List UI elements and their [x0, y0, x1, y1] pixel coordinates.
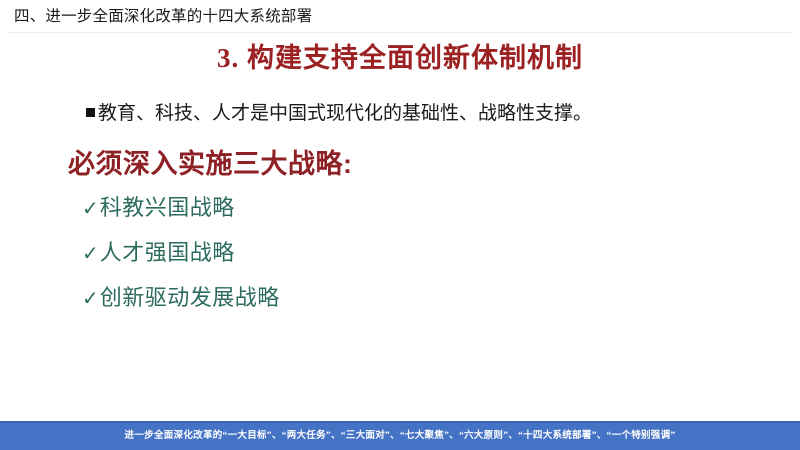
bullet-statement: 教育、科技、人才是中国式现代化的基础性、战略性支撑。	[86, 101, 780, 126]
slide-title: 3. 构建支持全面创新体制机制	[0, 40, 800, 76]
strategy-label: 人才强国战略	[100, 239, 235, 267]
square-bullet-icon	[86, 108, 95, 117]
header-divider	[8, 32, 792, 33]
section-heading: 四、进一步全面深化改革的十四大系统部署	[14, 6, 786, 28]
check-icon: ✓	[82, 287, 99, 311]
strategy-label: 创新驱动发展战略	[100, 284, 280, 312]
slide-header: 四、进一步全面深化改革的十四大系统部署	[14, 6, 786, 32]
list-item: ✓ 科教兴国战略	[82, 194, 682, 239]
list-item: ✓ 创新驱动发展战略	[82, 284, 682, 329]
strategy-list: ✓ 科教兴国战略 ✓ 人才强国战略 ✓ 创新驱动发展战略	[82, 194, 682, 329]
check-icon: ✓	[82, 242, 99, 266]
list-item: ✓ 人才强国战略	[82, 239, 682, 284]
bullet-statement-text: 教育、科技、人才是中国式现代化的基础性、战略性支撑。	[98, 101, 592, 126]
footer-banner: 进一步全面深化改革的“一大目标”、“两大任务”、“三大面对”、“七大聚焦”、“六…	[0, 421, 800, 450]
check-icon: ✓	[82, 197, 99, 221]
strategy-label: 科教兴国战略	[100, 194, 235, 222]
sub-heading: 必须深入实施三大战略:	[68, 146, 353, 182]
presentation-slide: 四、进一步全面深化改革的十四大系统部署 3. 构建支持全面创新体制机制 教育、科…	[0, 0, 800, 450]
footer-text: 进一步全面深化改革的“一大目标”、“两大任务”、“三大面对”、“七大聚焦”、“六…	[125, 430, 676, 443]
